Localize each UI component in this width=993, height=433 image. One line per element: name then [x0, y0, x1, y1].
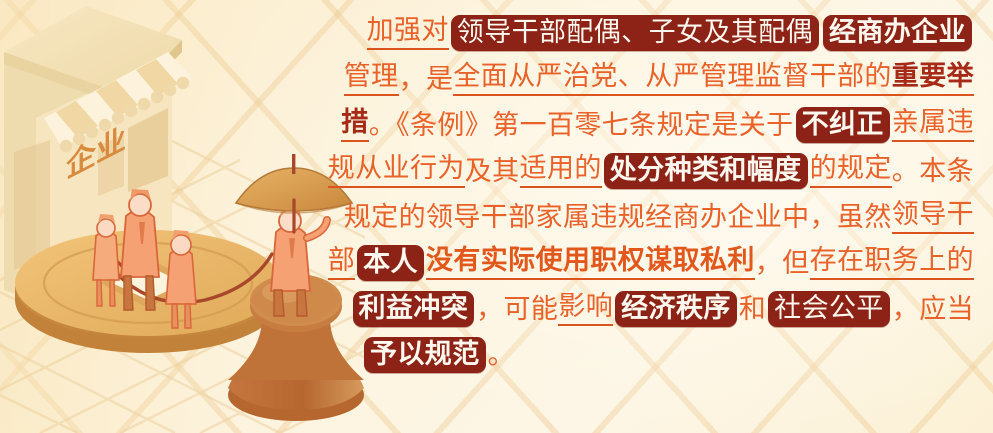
text-line-1: 加强对 领导干部配偶、子女及其配偶 经商办企业 — [362, 10, 974, 56]
text-line-7: 利益冲突 ， 可能 影响 经济秩序 和 社会公平 ， 应当 — [362, 286, 974, 332]
text-line-4: 规从业行为 及其 适用的 处分种类和幅度 的规定 。本条 — [362, 148, 974, 194]
line4-seg-6: 。本条 — [892, 148, 974, 194]
line7-seg-8: ， — [892, 286, 919, 332]
line7-badge-c: 社会公平 — [768, 291, 890, 328]
isometric-illustration: 企业 — [0, 0, 365, 433]
line7-seg-6: 和 — [739, 286, 766, 332]
body-text-block: 加强对 领导干部配偶、子女及其配偶 经商办企业 管理 ，是 全面从严治党、从严管… — [362, 10, 974, 425]
line5-seg-2: 虽然 — [837, 194, 892, 240]
line7-seg-2: ， — [476, 286, 503, 332]
line8-badge: 予以规范 — [364, 337, 486, 374]
line4-seg-3: 适用的 — [520, 154, 602, 187]
line4-seg-5: 的规定 — [810, 154, 892, 187]
line3-seg-4: 亲属违 — [892, 108, 974, 141]
line4-seg-2: 及其 — [465, 148, 520, 194]
text-line-6: 部 本人 没有实际使用职权谋取私利 ，但 存在职务上的 — [362, 240, 974, 286]
line7-badge-b: 经济秩序 — [615, 291, 737, 328]
line7-seg-9: 应当 — [919, 286, 974, 332]
line8-seg-2: 。 — [488, 332, 515, 378]
line5-seg-1: 规定的领导干部家属违规经商办企业中， — [344, 194, 837, 240]
text-line-2: 管理 ，是 全面从严治党、从严管理监督干部的 重要举 — [362, 56, 974, 102]
line1-seg-1: 加强对 — [367, 16, 449, 49]
line3-seg-2: 。《条例》第一百零七条规定是关于 — [369, 102, 794, 148]
line7-seg-4: 影响 — [558, 292, 613, 325]
line2-seg-2: ，是 — [399, 56, 454, 102]
line6-seg-1: 部 — [328, 246, 355, 279]
text-line-8: 予以规范 。 — [362, 332, 974, 378]
poster-root: 企业 — [0, 0, 993, 433]
line3-seg-1: 措 — [341, 108, 368, 141]
line3-badge: 不纠正 — [796, 107, 890, 144]
line7-badge-a: 利益冲突 — [353, 291, 475, 328]
line1-badge-a: 领导干部配偶、子女及其配偶 — [451, 15, 819, 52]
line2-seg-3: 全面从严治党、从严管理监督干部的 — [453, 62, 891, 95]
line5-seg-3: 领导干 — [892, 200, 974, 233]
line2-seg-4: 重要举 — [892, 62, 974, 95]
line2-seg-1: 管理 — [344, 62, 399, 95]
line6-seg-4: ，但 — [755, 240, 810, 286]
line4-badge: 处分种类和幅度 — [604, 153, 808, 190]
text-line-5: 规定的领导干部家属违规经商办企业中， 虽然 领导干 — [362, 194, 974, 240]
line6-badge: 本人 — [357, 245, 424, 282]
line7-seg-3: 可能 — [504, 286, 559, 332]
text-line-3: 措 。《条例》第一百零七条规定是关于 不纠正 亲属违 — [362, 102, 974, 148]
line4-seg-1: 规从业行为 — [328, 154, 465, 187]
line1-badge-b: 经商办企业 — [823, 15, 972, 52]
line6-seg-3: 没有实际使用职权谋取私利 — [426, 246, 755, 279]
line6-seg-5: 存在职务上的 — [810, 246, 974, 279]
